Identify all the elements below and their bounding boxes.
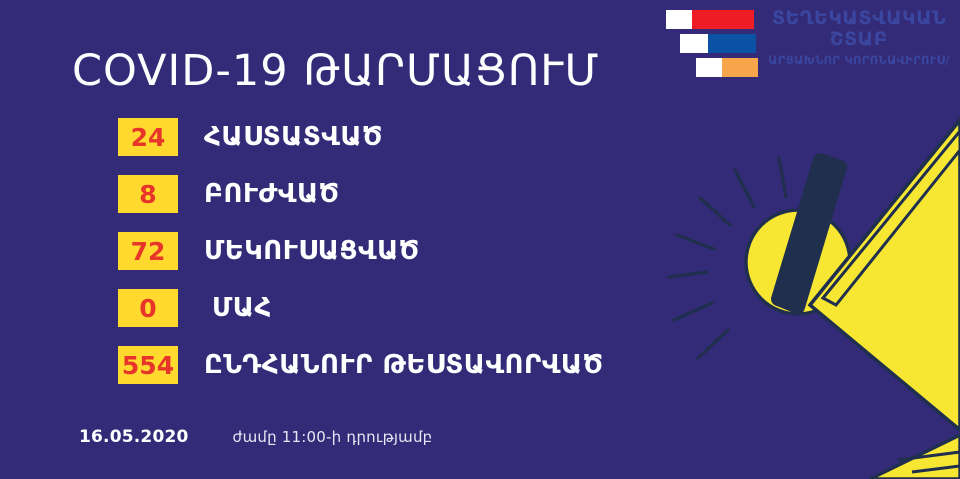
logo-line-3: ԱՐՑԱԽՆՈՐ ԿՈՐՈՆԱՎԻՐՈՒՍ/ — [764, 54, 954, 66]
logo-text-block: ՏԵՂԵԿԱՏՎԱԿԱՆ ՇՏԱԲ ԱՐՑԱԽՆՈՐ ԿՈՐՈՆԱՎԻՐՈՒՍ/ — [764, 8, 954, 66]
stat-value-total-tested: 554 — [118, 346, 178, 384]
logo-flag-bars — [664, 10, 756, 80]
stat-value-deaths: 0 — [118, 289, 178, 327]
stat-row-total-tested: 554 ԸՆԴՀԱՆՈՒՐ ԹԵՍՏԱՎՈՐՎԱԾ — [118, 346, 818, 384]
flag-bar-orange-white-segment — [696, 58, 722, 77]
megaphone-handle-lines — [898, 452, 960, 472]
megaphone-cone-inner-edge — [823, 131, 960, 305]
covid-update-poster: ՏԵՂԵԿԱՏՎԱԿԱՆ ՇՏԱԲ ԱՐՑԱԽՆՈՐ ԿՈՐՈՆԱՎԻՐՈՒՍ/… — [0, 0, 960, 479]
logo-line-1: ՏԵՂԵԿԱՏՎԱԿԱՆ — [764, 8, 954, 29]
logo-line-2: ՇՏԱԲ — [764, 29, 954, 50]
stat-row-confirmed: 24 ՀԱՍՏԱՏՎԱԾ — [118, 118, 818, 156]
flag-bar-blue-color-segment — [708, 34, 756, 53]
stat-label-total-tested: ԸՆԴՀԱՆՈՒՐ ԹԵՍՏԱՎՈՐՎԱԾ — [204, 350, 604, 380]
footer-date: 16.05.2020 — [79, 427, 189, 447]
stat-row-deaths: 0 ՄԱՀ — [118, 289, 818, 327]
stat-label-confirmed: ՀԱՍՏԱՏՎԱԾ — [204, 122, 383, 152]
stat-row-recovered: 8 ԲՈՒԺՎԱԾ — [118, 175, 818, 213]
stats-list: 24 ՀԱՍՏԱՏՎԱԾ 8 ԲՈՒԺՎԱԾ 72 ՄԵԿՈՒՍԱՑՎԱԾ 0 … — [118, 118, 818, 403]
stat-row-isolated: 72 ՄԵԿՈՒՍԱՑՎԱԾ — [118, 232, 818, 270]
megaphone-handle — [870, 435, 960, 479]
footer: 16.05.2020 ժամը 11:00-ի դրությամբ — [79, 427, 432, 447]
flag-bar-red-white-segment — [666, 10, 692, 29]
stat-label-deaths: ՄԱՀ — [212, 293, 272, 323]
megaphone-cone — [810, 120, 960, 430]
flag-bar-red — [666, 10, 754, 29]
footer-time-note: ժամը 11:00-ի դրությամբ — [233, 428, 433, 446]
flag-bar-red-color-segment — [692, 10, 754, 29]
stat-value-recovered: 8 — [118, 175, 178, 213]
stat-value-confirmed: 24 — [118, 118, 178, 156]
flag-bar-orange-color-segment — [722, 58, 758, 77]
logo: ՏԵՂԵԿԱՏՎԱԿԱՆ ՇՏԱԲ ԱՐՑԱԽՆՈՐ ԿՈՐՈՆԱՎԻՐՈՒՍ/ — [664, 8, 954, 84]
page-title: COVID-19 ԹԱՐՄԱՑՈՒՄ — [72, 46, 600, 96]
flag-bar-blue — [680, 34, 756, 53]
flag-bar-orange — [696, 58, 758, 77]
flag-bar-blue-white-segment — [680, 34, 708, 53]
stat-label-isolated: ՄԵԿՈՒՍԱՑՎԱԾ — [204, 236, 420, 266]
stat-label-recovered: ԲՈՒԺՎԱԾ — [204, 179, 340, 209]
stat-value-isolated: 72 — [118, 232, 178, 270]
